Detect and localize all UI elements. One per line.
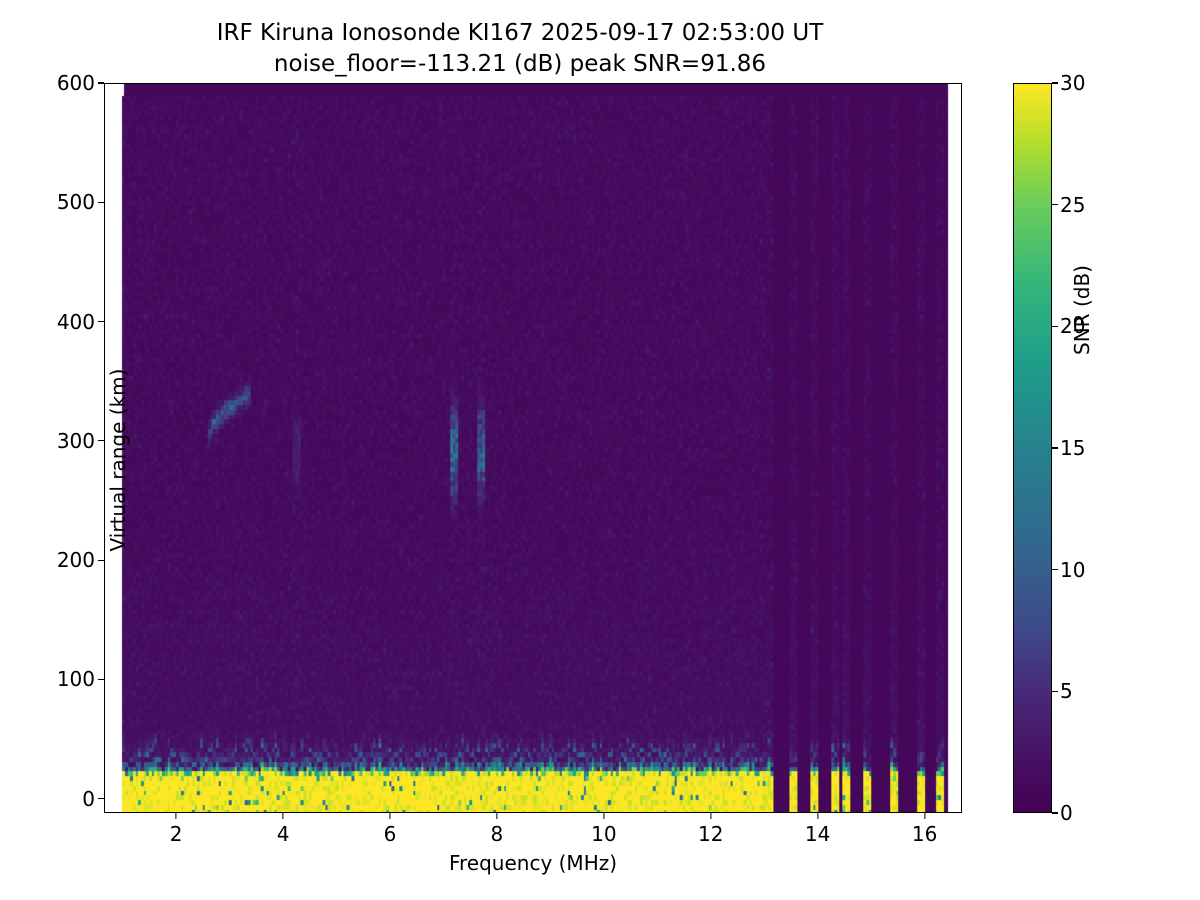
x-tick-mark: [282, 813, 283, 819]
y-tick-label: 300: [57, 429, 95, 453]
figure-title: IRF Kiruna Ionosonde KI167 2025-09-17 02…: [0, 18, 1040, 80]
colorbar-tick-mark: [1052, 447, 1058, 448]
colorbar-tick-label: 15: [1060, 436, 1085, 460]
y-tick-label: 400: [57, 310, 95, 334]
x-tick-mark: [176, 813, 177, 819]
colorbar: [1013, 83, 1052, 813]
y-tick-mark: [98, 440, 104, 441]
y-axis-label: Virtual range (km): [106, 295, 130, 625]
x-tick-label: 10: [591, 822, 616, 846]
y-tick-mark: [98, 202, 104, 203]
x-tick-label: 6: [384, 822, 397, 846]
colorbar-tick-mark: [1052, 204, 1058, 205]
colorbar-tick-mark: [1052, 326, 1058, 327]
x-tick-label: 2: [170, 822, 183, 846]
colorbar-tick-mark: [1052, 569, 1058, 570]
colorbar-tick-label: 30: [1060, 71, 1085, 95]
x-axis-label: Frequency (MHz): [104, 851, 962, 875]
y-tick-label: 600: [57, 71, 95, 95]
y-tick-label: 100: [57, 667, 95, 691]
y-tick-mark: [98, 679, 104, 680]
colorbar-tick-label: 10: [1060, 558, 1085, 582]
colorbar-tick-mark: [1052, 82, 1058, 83]
y-tick-mark: [98, 82, 104, 83]
colorbar-tick-label: 5: [1060, 679, 1073, 703]
colorbar-tick-mark: [1052, 812, 1058, 813]
x-tick-mark: [389, 813, 390, 819]
x-tick-mark: [603, 813, 604, 819]
colorbar-tick-label: 0: [1060, 801, 1073, 825]
ionogram-figure: IRF Kiruna Ionosonde KI167 2025-09-17 02…: [0, 0, 1200, 900]
ionogram-heatmap: [105, 84, 961, 812]
y-tick-label: 200: [57, 548, 95, 572]
y-tick-mark: [98, 560, 104, 561]
y-tick-mark: [98, 798, 104, 799]
y-tick-label: 500: [57, 190, 95, 214]
colorbar-gradient: [1013, 83, 1052, 813]
ionogram-plot-area: [104, 83, 962, 813]
x-tick-label: 16: [912, 822, 937, 846]
x-tick-mark: [924, 813, 925, 819]
x-tick-label: 14: [805, 822, 830, 846]
y-tick-mark: [98, 321, 104, 322]
x-tick-mark: [817, 813, 818, 819]
colorbar-tick-label: 25: [1060, 193, 1085, 217]
y-tick-label: 0: [82, 787, 95, 811]
x-tick-label: 4: [277, 822, 290, 846]
colorbar-tick-label: 20: [1060, 314, 1085, 338]
x-tick-mark: [710, 813, 711, 819]
x-tick-label: 12: [698, 822, 723, 846]
x-tick-mark: [496, 813, 497, 819]
x-tick-label: 8: [491, 822, 504, 846]
colorbar-tick-mark: [1052, 691, 1058, 692]
